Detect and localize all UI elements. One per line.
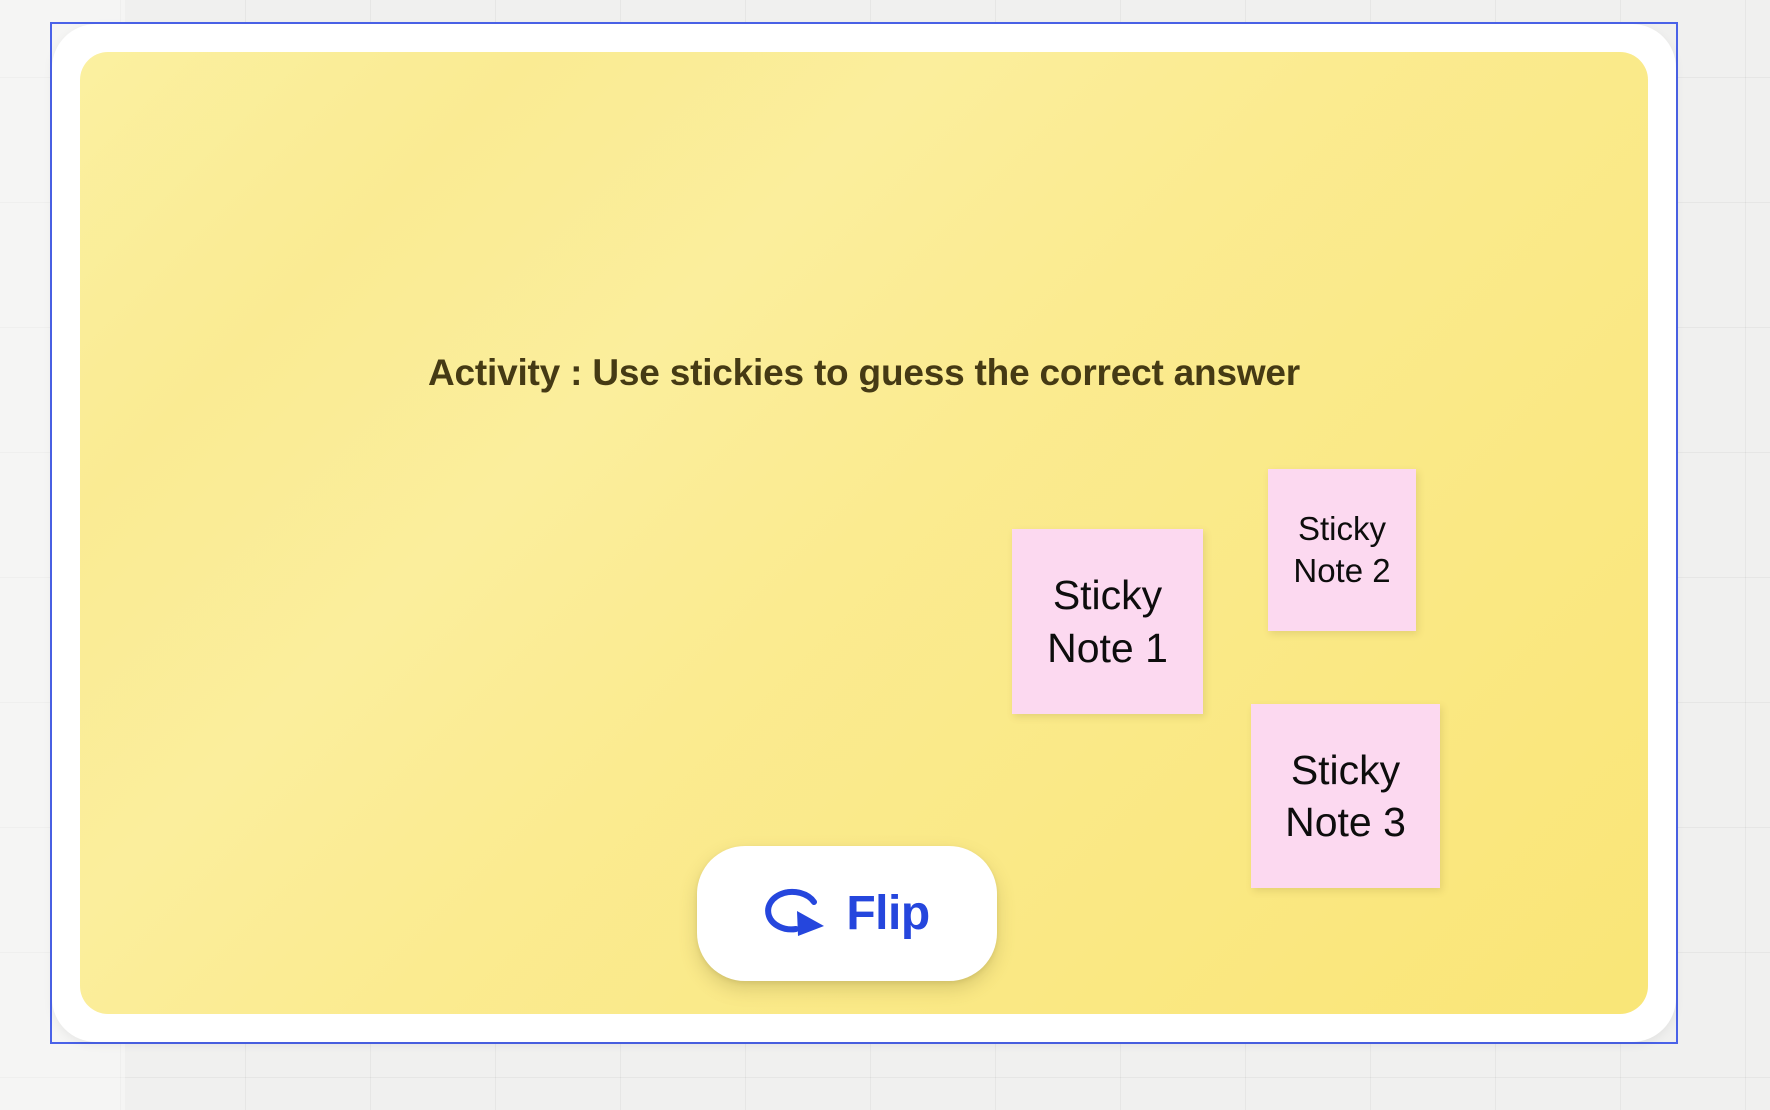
sticky-note-2[interactable]: Sticky Note 2 (1268, 469, 1416, 631)
board-canvas[interactable]: Activity : Use stickies to guess the cor… (0, 0, 1770, 1110)
sticky-note-3-label: Sticky Note 3 (1255, 744, 1436, 849)
flashcard-face[interactable]: Activity : Use stickies to guess the cor… (80, 52, 1648, 1014)
sticky-note-1-label: Sticky Note 1 (1016, 569, 1199, 674)
rotate-arrow-icon (764, 888, 828, 940)
sticky-note-3[interactable]: Sticky Note 3 (1251, 704, 1440, 888)
flip-button[interactable]: Flip (697, 846, 997, 981)
page-title: Activity : Use stickies to guess the cor… (80, 352, 1648, 394)
flashcard-shell[interactable]: Activity : Use stickies to guess the cor… (52, 24, 1676, 1042)
flip-button-label: Flip (846, 886, 929, 941)
sticky-note-1[interactable]: Sticky Note 1 (1012, 529, 1203, 714)
sticky-note-2-label: Sticky Note 2 (1272, 508, 1412, 592)
